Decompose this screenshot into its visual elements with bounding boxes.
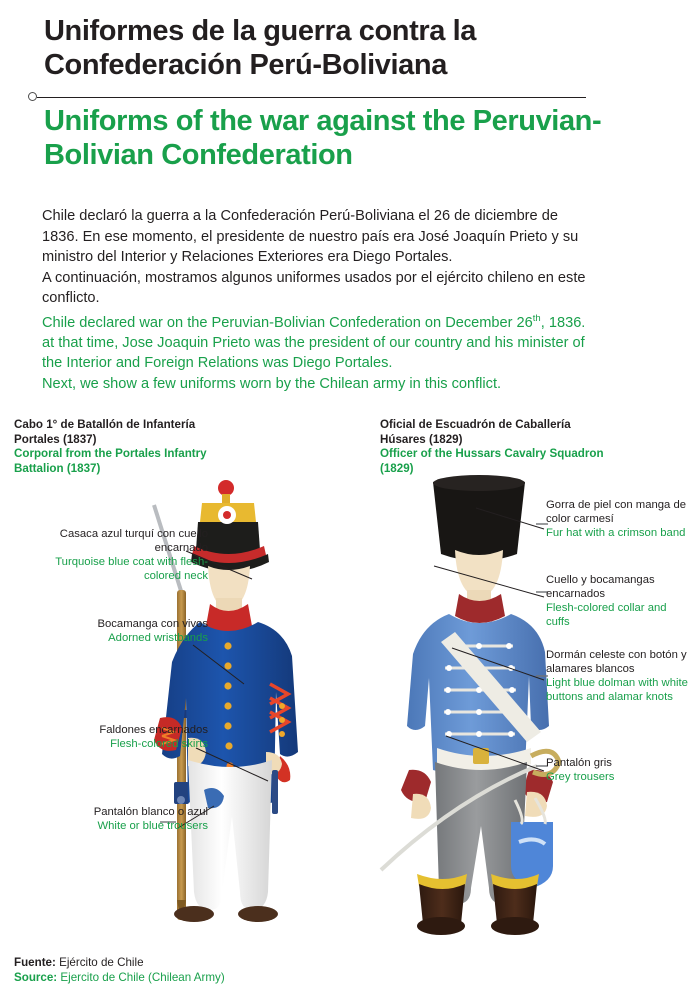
- left-shoe: [174, 906, 214, 922]
- source-label-spanish: Fuente:: [14, 956, 56, 969]
- annotation-dolman-right: Dormán celeste con botón y alamares blan…: [546, 648, 692, 704]
- right-boot-sole: [491, 917, 539, 935]
- annotation-spanish: Bocamanga con vivos: [60, 617, 208, 631]
- left-boot-sole: [417, 917, 465, 935]
- fur-hat-crown: [433, 475, 525, 491]
- annotation-fur-hat-right: Gorra de piel con manga de color carmesí…: [546, 498, 692, 540]
- annotation-english: Fur hat with a crimson band: [546, 526, 692, 540]
- source-spanish: Fuente: Ejército de Chile: [14, 955, 225, 970]
- annotation-cuff-left: Bocamanga con vivos Adorned wristbands: [60, 617, 208, 645]
- header-divider: [28, 92, 588, 104]
- annotation-english: Flesh-colored collar and cuffs: [546, 601, 692, 629]
- source-footer: Fuente: Ejército de Chile Source: Ejerci…: [14, 955, 225, 985]
- annotation-coat-left: Casaca azul turquí con cuello encarnado …: [40, 527, 208, 583]
- annotation-english: Adorned wristbands: [60, 631, 208, 645]
- figure-caption-infantry: Cabo 1° de Batallón de Infantería Portal…: [14, 418, 244, 476]
- figure-caption-hussar: Oficial de Escuadrón de Caballería Húsar…: [380, 418, 610, 476]
- annotation-english: Grey trousers: [546, 770, 692, 784]
- annotation-collar-right: Cuello y bocamangas encarnados Flesh-col…: [546, 573, 692, 629]
- source-value-english: Ejercito de Chile (Chilean Army): [57, 971, 225, 984]
- annotation-english: Flesh-colored skirts: [60, 737, 208, 751]
- right-shoe: [238, 906, 278, 922]
- annotation-english: White or blue trousers: [40, 819, 208, 833]
- annotation-spanish: Dormán celeste con botón y alamares blan…: [546, 648, 692, 676]
- trousers: [188, 760, 272, 910]
- intro-english-paragraph-1: Chile declared war on the Peruvian-Boliv…: [42, 309, 587, 374]
- pompom-stem: [222, 494, 230, 503]
- ordinal-suffix: th: [533, 313, 541, 324]
- source-value-spanish: Ejército de Chile: [56, 956, 144, 969]
- divider-line: [37, 97, 586, 98]
- cockade-center: [223, 511, 231, 519]
- divider-circle-marker: [28, 92, 37, 101]
- shako-pompom: [218, 480, 234, 496]
- infographic-page: Uniformes de la guerra contra la Confede…: [0, 0, 693, 1000]
- intro-english-part-a: Chile declared war on the Peruvian-Boliv…: [42, 314, 533, 330]
- source-english: Source: Ejercito de Chile (Chilean Army): [14, 970, 225, 985]
- source-label-english: Source:: [14, 971, 57, 984]
- illustration-hussar-officer: [375, 470, 585, 940]
- annotation-spanish: Gorra de piel con manga de color carmesí: [546, 498, 692, 526]
- annotation-spanish: Casaca azul turquí con cuello encarnado: [40, 527, 208, 555]
- belt-buckle: [473, 748, 489, 764]
- scabbard: [272, 770, 278, 814]
- annotation-trousers-right: Pantalón gris Grey trousers: [546, 756, 692, 784]
- annotation-spanish: Cuello y bocamangas encarnados: [546, 573, 692, 601]
- intro-spanish-paragraph-2: A continuación, mostramos algunos unifor…: [42, 268, 587, 309]
- intro-english-paragraph-2: Next, we show a few uniforms worn by the…: [42, 374, 587, 395]
- annotation-english: Turquoise blue coat with flesh-colored n…: [40, 555, 208, 583]
- annotation-spanish: Pantalón gris: [546, 756, 692, 770]
- intro-spanish-paragraph-1: Chile declaró la guerra a la Confederaci…: [42, 206, 587, 268]
- page-title-spanish: Uniformes de la guerra contra la Confede…: [44, 14, 644, 82]
- annotation-trousers-left: Pantalón blanco o azul White or blue tro…: [40, 805, 208, 833]
- left-hand: [411, 794, 431, 819]
- intro-text-block: Chile declaró la guerra a la Confederaci…: [42, 206, 587, 394]
- musket-lock: [177, 796, 185, 804]
- annotation-skirts-left: Faldones encarnados Flesh-colored skirts: [60, 723, 208, 751]
- annotation-spanish: Faldones encarnados: [60, 723, 208, 737]
- caption-spanish: Cabo 1° de Batallón de Infantería Portal…: [14, 418, 244, 447]
- annotation-spanish: Pantalón blanco o azul: [40, 805, 208, 819]
- page-title-english: Uniforms of the war against the Peruvian…: [44, 104, 644, 172]
- annotation-english: Light blue dolman with white buttons and…: [546, 676, 692, 704]
- caption-spanish: Oficial de Escuadrón de Caballería Húsar…: [380, 418, 610, 447]
